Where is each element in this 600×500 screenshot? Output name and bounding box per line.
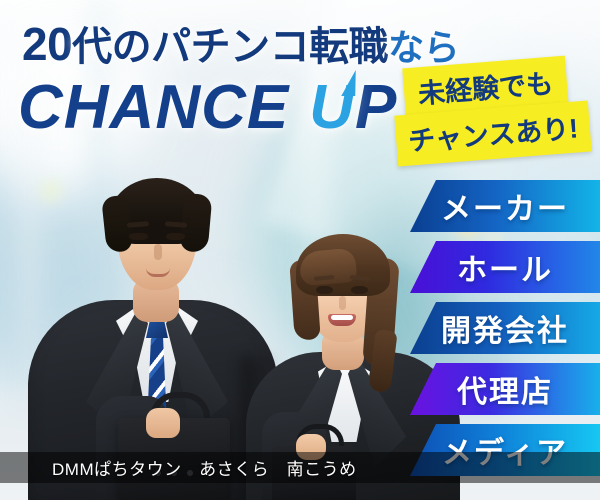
- headline-main: 代のパチンコ転職: [72, 25, 388, 69]
- category-bar-agency[interactable]: 代理店: [410, 363, 600, 415]
- category-bar-hall[interactable]: ホール: [410, 241, 600, 293]
- headline: 20代のパチンコ転職なら: [22, 14, 459, 72]
- logo-letter-u: U: [309, 72, 355, 143]
- category-label: ホール: [457, 245, 553, 289]
- category-bar-development-company[interactable]: 開発会社: [410, 302, 600, 354]
- headline-tail: なら: [388, 27, 459, 68]
- category-label: 代理店: [457, 367, 553, 411]
- credit-caption-text: DMMぱちタウン あさくら 南こうめ: [52, 455, 357, 480]
- category-label: 開発会社: [441, 306, 569, 350]
- category-label: メーカー: [441, 184, 569, 228]
- chance-up-logo: CHANCEUP: [18, 72, 397, 143]
- headline-number: 20: [22, 18, 72, 70]
- credit-caption-bar: DMMぱちタウン あさくら 南こうめ: [0, 452, 600, 483]
- logo-word-chance: CHANCE: [18, 73, 289, 142]
- advertising-banner[interactable]: 20代のパチンコ転職なら CHANCEUP 未経験でも チャンスあり! メーカー…: [0, 0, 600, 500]
- logo-letter-p: P: [355, 73, 397, 142]
- category-bar-maker[interactable]: メーカー: [410, 180, 600, 232]
